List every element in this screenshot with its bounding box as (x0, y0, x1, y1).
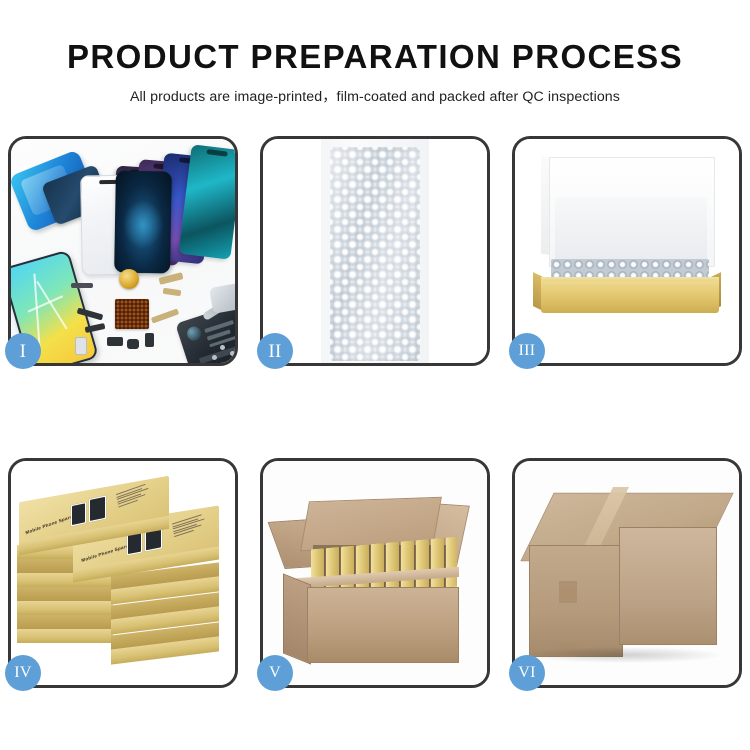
sim-tray-icon (75, 337, 87, 355)
flex-cable-dark-icon (77, 308, 104, 321)
vibration-coil-icon (119, 269, 139, 289)
tool-handle-icon (209, 282, 235, 314)
steps-grid: I II (8, 136, 742, 688)
step-badge-1: I (5, 333, 41, 369)
step-badge-4: IV (5, 655, 41, 691)
step-badge-6: VI (509, 655, 545, 691)
spare-components-group-icon (71, 267, 235, 363)
stacked-box-edge (17, 629, 113, 643)
stacked-box-shade (17, 587, 113, 601)
lcd-assembly-icon (114, 171, 172, 274)
flex-cable-icon (159, 272, 184, 285)
step-4-illustration: Mobile Phone Spare Parts Mobile Phone Sp… (11, 461, 235, 685)
page-title: PRODUCT PREPARATION PROCESS (0, 0, 750, 75)
step-2-illustration (263, 139, 487, 363)
step-panel-5[interactable]: V (260, 458, 490, 688)
screw-icon (230, 351, 235, 356)
screw-icon (212, 355, 217, 360)
flex-cable-dark-icon (85, 323, 106, 333)
step-panel-6[interactable]: VI (512, 458, 742, 688)
connector-icon (107, 337, 123, 346)
steps-row-1: I II (8, 136, 742, 366)
bubble-wrap-sheen (330, 147, 420, 361)
flex-cable-icon (163, 288, 182, 296)
step-1-illustration (11, 139, 235, 363)
carton-shadow (525, 647, 723, 663)
step-badge-2: II (257, 333, 293, 369)
copper-mesh-icon (115, 299, 149, 329)
speaker-part-icon (71, 283, 93, 288)
box-spec-lines (172, 513, 208, 539)
box-interior-icon (555, 197, 707, 263)
camera-module-icon (127, 339, 139, 349)
step-badge-3: III (509, 333, 545, 369)
header: PRODUCT PREPARATION PROCESS All products… (0, 0, 750, 106)
box-phone-image (71, 502, 86, 526)
step-panel-1[interactable]: I (8, 136, 238, 366)
box-spec-lines (116, 482, 152, 509)
step-panel-3[interactable]: III (512, 136, 742, 366)
step-badge-5: V (257, 655, 293, 691)
stacked-box-shade (17, 615, 113, 629)
box-phone-image (89, 496, 106, 523)
flex-cable-icon (151, 308, 179, 323)
step-3-illustration (515, 139, 739, 363)
kraft-box-stack-icon: Mobile Phone Spare Parts Mobile Phone Sp… (15, 479, 235, 679)
stacked-box-edge (17, 601, 113, 615)
step-6-illustration (515, 461, 739, 685)
screw-icon (220, 345, 225, 350)
kraft-box-front-icon (541, 281, 719, 313)
carton-flap-tab-icon (559, 581, 577, 603)
step-panel-4[interactable]: Mobile Phone Spare Parts Mobile Phone Sp… (8, 458, 238, 688)
sealed-carton-side-icon (619, 527, 717, 645)
steps-row-2: Mobile Phone Spare Parts Mobile Phone Sp… (8, 458, 742, 688)
carton-front-icon (307, 587, 459, 663)
page-subtitle: All products are image-printed，film-coat… (0, 75, 750, 106)
step-5-illustration (263, 461, 487, 685)
button-part-icon (145, 333, 154, 347)
product-preparation-infographic: PRODUCT PREPARATION PROCESS All products… (0, 0, 750, 750)
step-panel-2[interactable]: II (260, 136, 490, 366)
